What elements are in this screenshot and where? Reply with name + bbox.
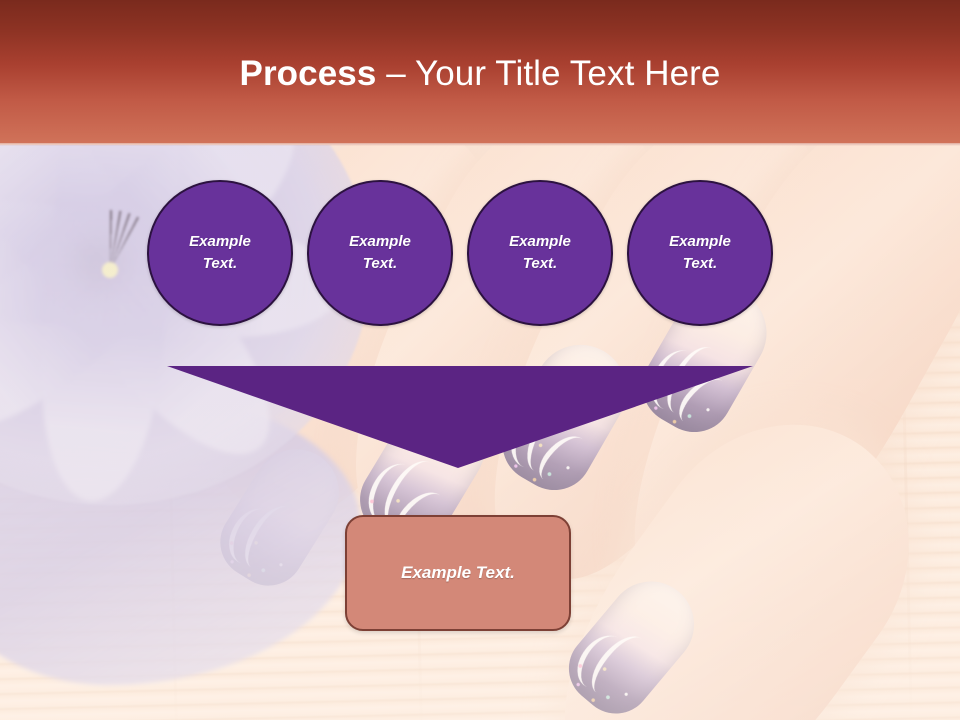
process-step-circle-2[interactable]: Example Text. [307,180,453,326]
result-box[interactable]: Example Text. [345,515,571,631]
process-step-circle-3[interactable]: Example Text. [467,180,613,326]
result-box-label: Example Text. [401,563,515,583]
page-title-light: – Your Title Text Here [376,54,720,93]
process-step-circle-1[interactable]: Example Text. [147,180,293,326]
page-title-strong: Process [240,54,377,93]
arrow-down-icon [160,360,760,480]
slide-canvas: Process – Your Title Text Here Example T… [0,0,960,720]
slide-title-bar: Process – Your Title Text Here [0,0,960,143]
process-step-label: Example Text. [509,231,571,275]
process-step-label: Example Text. [349,231,411,275]
process-step-label: Example Text. [189,231,251,275]
process-step-label: Example Text. [669,231,731,275]
process-step-circle-4[interactable]: Example Text. [627,180,773,326]
page-title: Process – Your Title Text Here [240,55,721,94]
title-bar-edge [0,143,960,146]
